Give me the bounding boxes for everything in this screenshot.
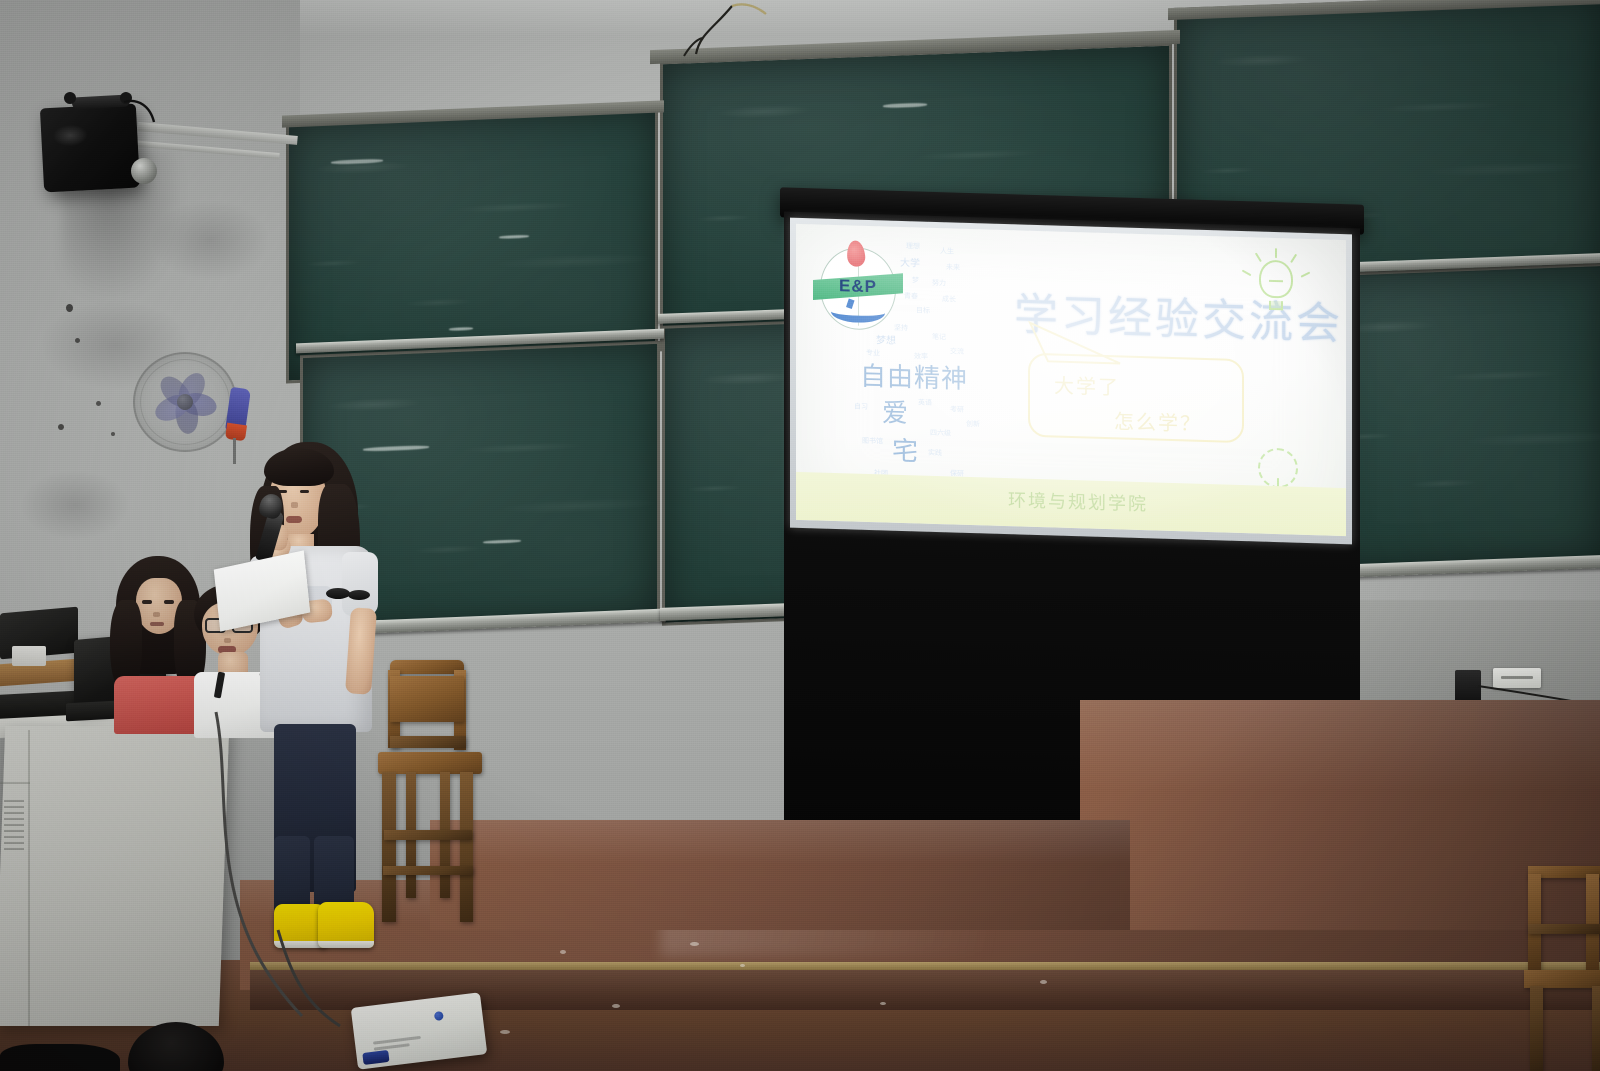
floor-speck — [690, 942, 699, 946]
fan-mount-pole — [233, 438, 236, 464]
bulb-filament — [1269, 275, 1283, 282]
stage-edge-trim — [250, 962, 1600, 970]
chalk-mark — [449, 327, 473, 331]
floor-speck — [740, 964, 745, 967]
wall-fan — [133, 352, 237, 452]
slide-footer-text: 环境与规划学院 — [1008, 486, 1148, 516]
chair-back-left-stile — [1528, 874, 1541, 970]
wall-blemish — [111, 432, 115, 436]
projector-label-line — [374, 1043, 410, 1050]
speaker-pivot-knuckle — [131, 158, 157, 184]
speech-bubble-line-2: 怎么学？ — [1114, 405, 1202, 437]
projector-lens — [362, 1050, 389, 1065]
eye-left — [142, 600, 152, 604]
chair-back-right-stile — [1586, 874, 1599, 970]
bulb-ray — [1275, 248, 1277, 258]
audience-shoulder-silhouette — [0, 1044, 120, 1071]
projected-slide: E&P 理想 人生 大学 未来 梦 努力 青春 成长 目标 坚持 梦想 笔记 — [796, 224, 1346, 536]
nose — [291, 502, 298, 508]
floor-speck — [500, 1030, 510, 1034]
wall-smudge — [20, 470, 130, 540]
nose — [224, 638, 231, 643]
lightbulb-icon — [1254, 259, 1298, 310]
wooden-chair[interactable] — [378, 660, 498, 950]
chair-front-right-leg — [460, 772, 473, 922]
speaker-bolt — [64, 92, 76, 104]
speech-bubble-tail — [1024, 321, 1144, 371]
fan-hub — [177, 394, 193, 410]
arm-right — [345, 607, 377, 695]
chalk-mark — [499, 235, 529, 239]
wall-blemish — [96, 401, 101, 406]
chalk-mark — [883, 103, 927, 109]
chair-stretcher-upper — [384, 830, 472, 840]
mouth — [150, 622, 164, 626]
classroom-photo-scene: E&P 理想 人生 大学 未来 梦 努力 青春 成长 目标 坚持 梦想 笔记 — [0, 0, 1600, 1071]
eye-right — [300, 490, 309, 493]
wall-blemish — [58, 424, 64, 430]
podium-seam — [0, 782, 30, 784]
chair-stretcher-lower — [383, 866, 473, 875]
chalk-mark — [483, 539, 521, 544]
mouth-speaking — [286, 516, 302, 523]
speaker-cable — [124, 98, 164, 132]
bulb-base — [1269, 301, 1283, 310]
chair-back-panel — [390, 676, 464, 722]
wall-blemish — [66, 304, 73, 312]
podium-seam-vertical — [28, 730, 30, 1026]
bulb-ray — [1290, 254, 1297, 263]
floor-speck — [880, 1002, 886, 1005]
chair-front-right-leg — [1592, 986, 1600, 1071]
wrist-band-right — [348, 590, 370, 600]
chair-back-lower-rail — [390, 736, 466, 748]
stage-floor-mid — [430, 820, 1130, 930]
chair-back-top-rail — [390, 660, 464, 674]
bulb-ray — [1255, 252, 1262, 262]
projector-label-line — [373, 1036, 421, 1045]
podium-cabinet[interactable] — [0, 726, 229, 1026]
speech-bubble-line-1: 大学了 — [1054, 369, 1120, 400]
chair-back-lower-rail — [1528, 924, 1600, 934]
wrist-band-left — [326, 588, 350, 599]
eye-right — [164, 600, 174, 604]
floor-speck — [560, 950, 566, 954]
wall-blemish — [75, 338, 80, 343]
wooden-chair-right[interactable] — [1528, 866, 1600, 1071]
bulb-ray — [1242, 270, 1252, 277]
desk-white-item — [12, 646, 46, 666]
floor-speck — [1040, 980, 1047, 984]
projector-lens-dot — [434, 1011, 444, 1021]
nose — [153, 612, 160, 617]
tshirt-sleeve-right — [342, 552, 378, 616]
chalk-mark — [331, 159, 383, 165]
chair-front-left-leg — [1530, 986, 1543, 1071]
podium-vent-grille — [4, 800, 24, 850]
stage-floor-right — [1080, 700, 1600, 930]
fan-base-cap — [225, 423, 247, 442]
floor-speck — [612, 1004, 620, 1008]
bulb-ray — [1301, 271, 1311, 277]
hanging-wire — [640, 0, 820, 60]
